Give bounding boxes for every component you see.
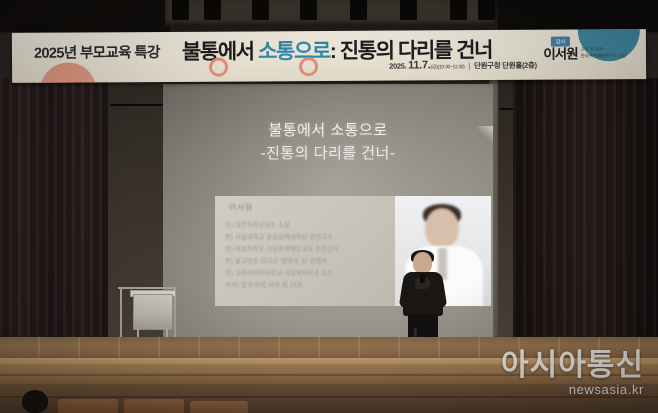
lectern-body (133, 294, 173, 330)
banner-ring-decoration-1 (209, 58, 228, 77)
audience-chair (124, 399, 184, 413)
slide-profile-heading: 이서원 (229, 202, 253, 213)
stage-curtain-left (0, 78, 118, 346)
ceiling-light-slot (450, 0, 467, 20)
banner-ring-decoration-2 (299, 57, 318, 76)
microphone-icon (420, 274, 425, 283)
speaker-head (413, 252, 432, 274)
event-banner: 2025년 부모교육 특강 불통에서 소통으로: 진통의 다리를 건너 2025… (12, 29, 646, 83)
banner-prefix-text: 2025년 부모교육 특강 (34, 41, 160, 63)
slide-profile-line: 전) 고려사이버대학교 사회복지학과 교수 (225, 268, 405, 280)
stage-railing-bar (118, 287, 176, 289)
floor-seam (0, 374, 658, 376)
speaker-person (400, 252, 446, 350)
ceiling-light-slot (300, 0, 317, 20)
audience-chair (190, 401, 248, 413)
ceiling-dark-right (498, 0, 658, 32)
stage-railing-post (120, 288, 122, 340)
ceiling-light-slot (400, 0, 417, 20)
slide-profile-line: 저서) 말과 마음 사이 외 13권 (225, 280, 405, 292)
slide-subtitle: -진통의 다리를 건너- (163, 142, 493, 163)
curtain-rail-left (110, 104, 170, 106)
banner-speaker-block: 강사 이서원 교수 및 박사 한국폭력예방연구소 소장 (543, 36, 626, 61)
ceiling-light-slot (172, 0, 189, 20)
slide-profile-line: 현) 여성가족부 가정폭력예방교육 전문강사 (225, 244, 405, 256)
stage-curtain-right (513, 78, 658, 346)
lectern: ··· (133, 290, 171, 342)
banner-venue: 단원구청 단원홀(2층) (474, 61, 537, 70)
banner-year: 2025. (389, 62, 406, 71)
banner-title-colon: : (330, 40, 336, 63)
audience-head (22, 390, 48, 413)
slide-profile-line: 현) 불교방송 라디오 '행복의 길' 진행자 (225, 256, 405, 268)
banner-date-venue: 2025. 11.7.(금)(10:30~11:30) | 단원구청 단원홀(2… (389, 59, 537, 72)
ceiling-dark-left (0, 0, 170, 32)
banner-inner: 2025년 부모교육 특강 불통에서 소통으로: 진통의 다리를 건너 2025… (12, 29, 646, 83)
banner-speaker-left: 강사 이서원 (543, 36, 577, 61)
banner-speaker-name: 이서원 (543, 47, 577, 61)
slide-profile-lines: 현) 대한가족상담소 소장 현) 서울대학교 공공정책대학원 겸임교수 현) 여… (225, 220, 405, 292)
audience-chair (58, 399, 118, 413)
banner-speaker-desc-line2: 한국폭력예방연구소 소장 (581, 53, 626, 60)
banner-time: (10:30~11:30) (438, 64, 465, 70)
banner-speaker-description: 교수 및 박사 한국폭력예방연구소 소장 (581, 46, 626, 61)
profile-photo-head (425, 208, 459, 248)
screenshot-photo: 불통에서 소통으로 -진통의 다리를 건너- 이서원 현) 대한가족상담소 소장… (0, 0, 658, 413)
ceiling-light-slot (478, 0, 495, 20)
banner-date: 11.7. (408, 59, 430, 71)
banner-separator: | (468, 61, 470, 70)
slide-title: 불통에서 소통으로 (163, 120, 493, 142)
banner-speaker-badge: 강사 (551, 37, 571, 47)
floor-seam (0, 396, 658, 398)
ceiling-light-slot (204, 0, 221, 20)
banner-coral-circle-decoration (40, 62, 96, 83)
slide-profile-line: 현) 서울대학교 공공정책대학원 겸임교수 (225, 232, 405, 244)
slide-profile-card: 이서원 현) 대한가족상담소 소장 현) 서울대학교 공공정책대학원 겸임교수 … (215, 196, 491, 306)
banner-title-sotong: 소통 (258, 40, 294, 63)
ceiling-light-slot (350, 0, 367, 20)
slide-profile-line: 현) 대한가족상담소 소장 (225, 220, 405, 232)
lectern-controls: ··· (153, 306, 160, 311)
ceiling-light-slot (252, 0, 269, 20)
